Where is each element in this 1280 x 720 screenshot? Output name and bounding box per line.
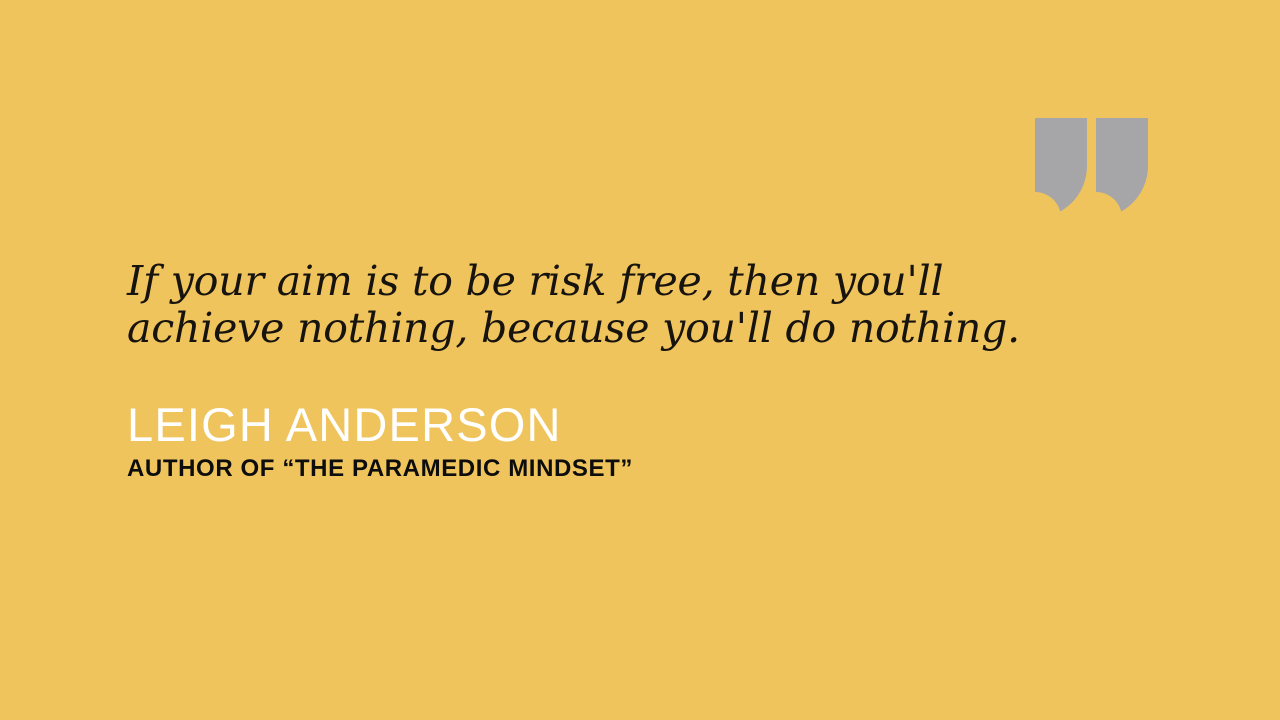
- closing-double-quote-icon-right: [1096, 118, 1148, 218]
- author-name: LEIGH ANDERSON: [127, 400, 1027, 450]
- quote-mark-decoration: [1035, 118, 1148, 218]
- attribution-block: LEIGH ANDERSON AUTHOR OF “THE PARAMEDIC …: [127, 400, 1027, 482]
- author-role: AUTHOR OF “THE PARAMEDIC MINDSET”: [127, 456, 1027, 482]
- quote-slide: If your aim is to be risk free, then you…: [0, 0, 1280, 720]
- quote-text: If your aim is to be risk free, then you…: [127, 258, 1027, 352]
- closing-double-quote-icon-left: [1035, 118, 1087, 218]
